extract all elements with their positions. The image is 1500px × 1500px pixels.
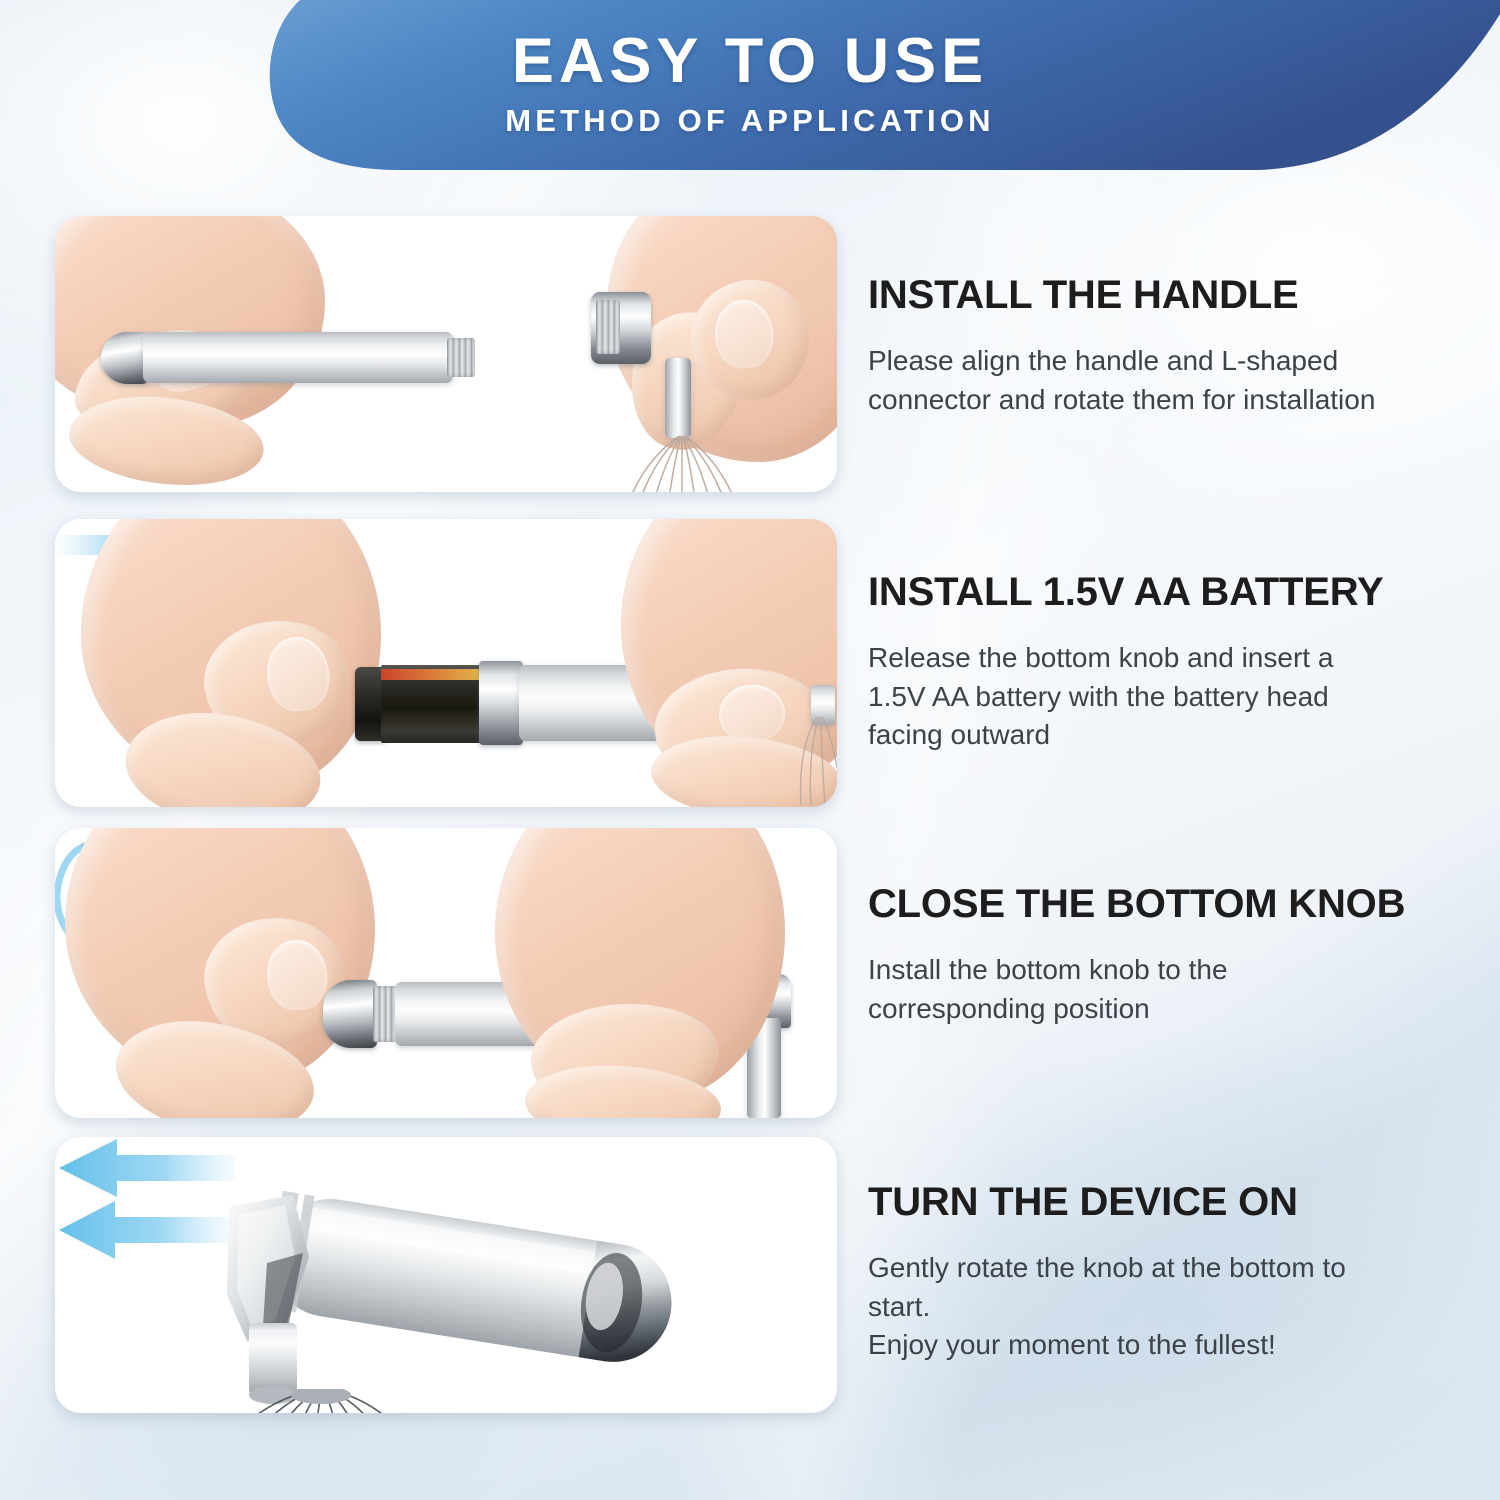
steps-list: INSTALL THE HANDLE Please align the hand… [0, 176, 1500, 1453]
step-4-body-line-1: Gently rotate the knob at the bottom to [868, 1249, 1460, 1288]
step-4-body-line-2: start. [868, 1288, 1460, 1327]
step-row-3: CLOSE THE BOTTOM KNOB Install the bottom… [0, 808, 1500, 1123]
turn-on-render [55, 1137, 837, 1413]
install-handle-photo [55, 216, 837, 492]
step-1-text: INSTALL THE HANDLE Please align the hand… [868, 274, 1468, 419]
bottom-knob [323, 980, 377, 1048]
step-2-body-line-2: 1.5V AA battery with the battery head [868, 678, 1460, 717]
step-3-body-line-1: Install the bottom knob to the [868, 951, 1460, 990]
step-4-image-card [55, 1137, 837, 1413]
step-2-body: Release the bottom knob and insert a 1.5… [868, 639, 1460, 755]
l-connector-thread [596, 300, 620, 354]
step-1-body-line-2: connector and rotate them for installati… [868, 381, 1460, 420]
whisk-head [611, 432, 751, 492]
close-knob-photo [55, 828, 837, 1118]
step-2-image-card [55, 519, 837, 807]
step-2-title: INSTALL 1.5V AA BATTERY [868, 571, 1468, 613]
step-1-title: INSTALL THE HANDLE [868, 274, 1468, 316]
step-4-text: TURN THE DEVICE ON Gently rotate the kno… [868, 1181, 1468, 1365]
step-1-body: Please align the handle and L-shaped con… [868, 342, 1460, 419]
assembled-device [143, 1145, 743, 1413]
handle-tube [143, 332, 453, 383]
step-1-image-card [55, 216, 837, 492]
step-4-title: TURN THE DEVICE ON [868, 1181, 1468, 1223]
step-3-body-line-2: corresponding position [868, 990, 1460, 1029]
whisk-stem [665, 358, 691, 438]
step-2-body-line-1: Release the bottom knob and insert a [868, 639, 1460, 678]
step-3-body: Install the bottom knob to the correspon… [868, 951, 1460, 1028]
step-row-4: TURN THE DEVICE ON Gently rotate the kno… [0, 1123, 1500, 1453]
step-2-text: INSTALL 1.5V AA BATTERY Release the bott… [868, 571, 1468, 755]
handle-end-cap [101, 332, 149, 384]
install-battery-photo [55, 519, 837, 807]
handle-thread [447, 338, 475, 377]
battery-compartment-collar [479, 661, 523, 745]
step-2-body-line-3: facing outward [868, 716, 1460, 755]
step-row-2: INSTALL 1.5V AA BATTERY Release the bott… [0, 493, 1500, 808]
step-4-body-line-3: Enjoy your moment to the fullest! [868, 1326, 1460, 1365]
step-3-title: CLOSE THE BOTTOM KNOB [868, 883, 1468, 925]
step-3-image-card [55, 828, 837, 1118]
whisk-head [799, 715, 837, 807]
battery-label-stripe [381, 669, 483, 680]
step-1-body-line-1: Please align the handle and L-shaped [868, 342, 1460, 381]
step-3-text: CLOSE THE BOTTOM KNOB Install the bottom… [868, 883, 1468, 1028]
whisk-head [161, 1389, 481, 1413]
step-row-1: INSTALL THE HANDLE Please align the hand… [0, 176, 1500, 493]
step-4-body: Gently rotate the knob at the bottom to … [868, 1249, 1460, 1365]
